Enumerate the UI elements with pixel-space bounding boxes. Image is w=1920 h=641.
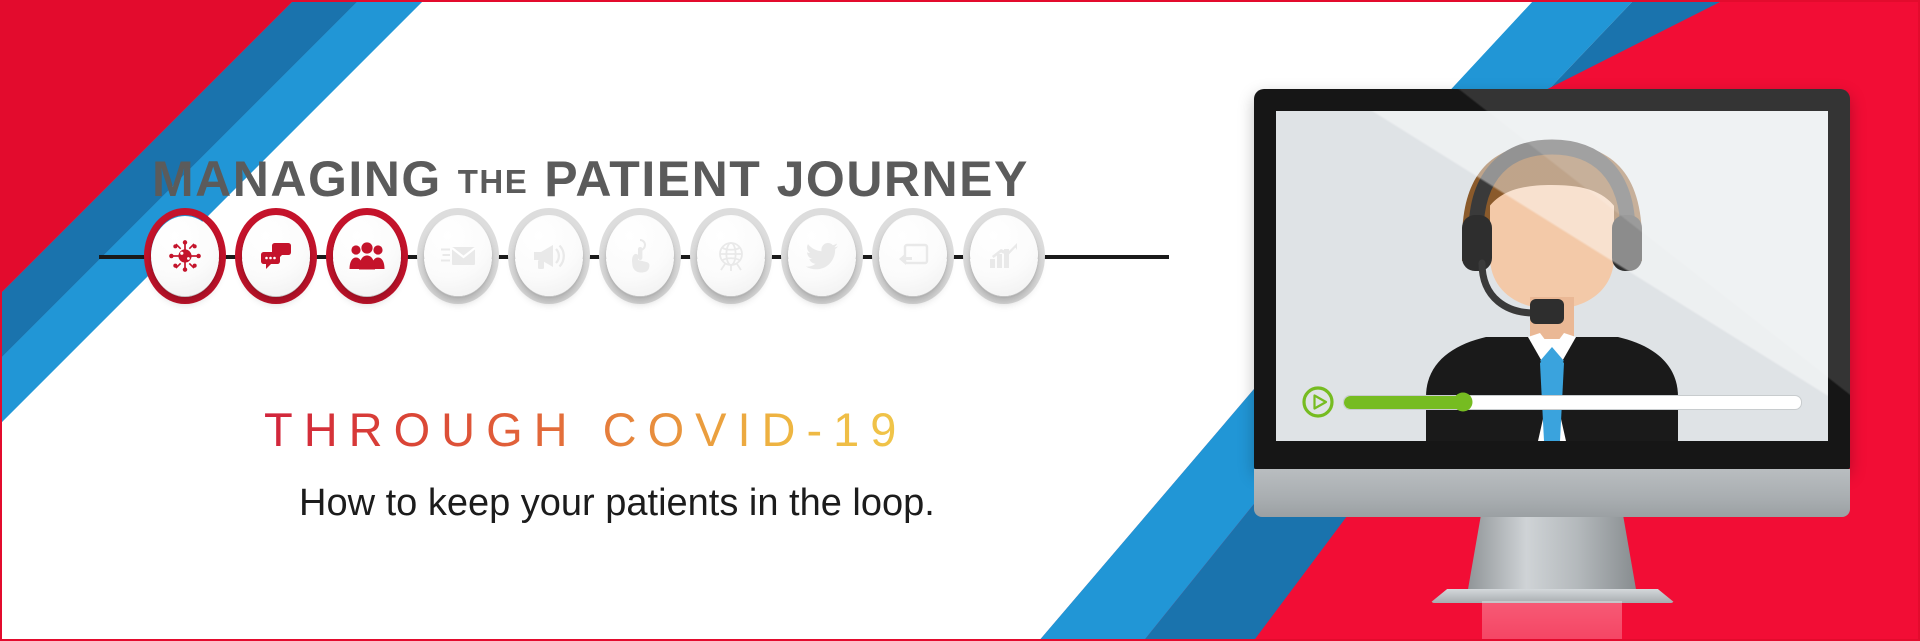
- play-icon[interactable]: [1302, 386, 1334, 418]
- monitor-chin: [1254, 469, 1850, 517]
- node-disc: [606, 216, 674, 296]
- email-icon: [441, 244, 475, 268]
- video-progress-fill: [1344, 396, 1463, 409]
- growth-chart-icon: [988, 242, 1020, 270]
- timeline-node-hand-touch[interactable]: [597, 202, 683, 310]
- hand-touch-icon: [628, 239, 652, 273]
- covid-subtitle: THROUGH COVID-19: [264, 402, 907, 457]
- node-disc: [515, 216, 583, 296]
- timeline-node-people[interactable]: [324, 202, 410, 310]
- banner-root: MANAGINGTHEPATIENT JOURNEY: [0, 0, 1920, 641]
- chat-bubbles-icon: [259, 241, 293, 271]
- timeline-node-twitter[interactable]: [779, 202, 865, 310]
- timeline-nodes: [142, 202, 1047, 310]
- node-disc: [424, 216, 492, 296]
- tagline-text: How to keep your patients in the loop.: [299, 482, 935, 525]
- globe-web-icon: [715, 240, 747, 272]
- video-player-controls[interactable]: [1302, 385, 1802, 419]
- timeline-node-virus[interactable]: [142, 202, 228, 310]
- timeline-node-chat[interactable]: [233, 202, 319, 310]
- timeline-node-screen-share[interactable]: [870, 202, 956, 310]
- timeline-node-globe[interactable]: [688, 202, 774, 310]
- people-group-icon: [349, 242, 385, 270]
- desktop-monitor: [1254, 89, 1850, 469]
- headline-part-1: MANAGING: [152, 151, 442, 207]
- node-disc: [970, 216, 1038, 296]
- node-disc: [788, 216, 856, 296]
- screen-share-icon: [897, 241, 929, 271]
- left-content-block: MANAGINGTHEPATIENT JOURNEY: [2, 2, 1182, 641]
- monitor-bezel: [1254, 89, 1850, 469]
- node-disc: [242, 216, 310, 296]
- timeline-node-megaphone[interactable]: [506, 202, 592, 310]
- headline-part-2: THE: [458, 163, 529, 200]
- timeline-node-growth[interactable]: [961, 202, 1047, 310]
- node-disc: [333, 216, 401, 296]
- node-disc: [151, 216, 219, 296]
- node-disc: [697, 216, 765, 296]
- megaphone-icon: [532, 242, 566, 270]
- node-disc: [879, 216, 947, 296]
- video-progress-knob[interactable]: [1453, 393, 1472, 412]
- headline-part-3: PATIENT JOURNEY: [544, 151, 1029, 207]
- patient-journey-timeline: [99, 202, 1169, 312]
- monitor-stand-neck: [1467, 517, 1637, 595]
- twitter-bird-icon: [805, 242, 839, 270]
- timeline-node-email[interactable]: [415, 202, 501, 310]
- monitor-screen: [1276, 111, 1828, 441]
- video-progress-track[interactable]: [1343, 395, 1802, 410]
- page-title: MANAGINGTHEPATIENT JOURNEY: [152, 154, 1029, 204]
- monitor-reflection: [1482, 601, 1622, 641]
- virus-icon: [168, 239, 202, 273]
